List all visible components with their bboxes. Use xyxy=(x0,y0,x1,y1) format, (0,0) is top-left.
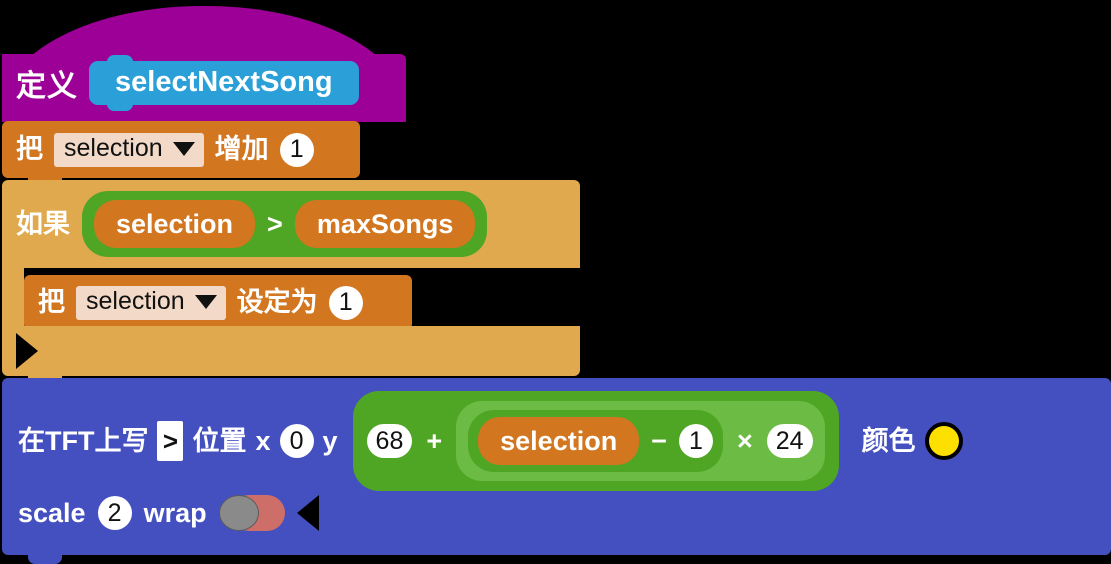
variable-reporter-selection-math-label: selection xyxy=(500,428,617,455)
multiplier-value: 24 xyxy=(776,429,804,454)
multiplication-operator-block[interactable]: selection − 1 × 24 xyxy=(456,401,824,481)
tft-scale-input[interactable]: 2 xyxy=(98,496,132,530)
subtraction-operator-block[interactable]: selection − 1 xyxy=(468,410,723,472)
set-variable-dropdown[interactable]: selection xyxy=(76,286,226,320)
define-hat-row: 定义 selectNextSong xyxy=(16,53,359,113)
multiplier-input[interactable]: 24 xyxy=(767,424,813,458)
set-var-prefix-label: 把 xyxy=(38,289,65,316)
if-block-footer[interactable] xyxy=(2,326,580,376)
define-keyword-label: 定义 xyxy=(16,61,78,105)
tft-x-input[interactable]: 0 xyxy=(280,424,314,458)
addend-input[interactable]: 68 xyxy=(367,424,413,458)
variable-dropdown-label: selection xyxy=(64,136,163,161)
change-var-prefix-label: 把 xyxy=(16,136,43,163)
addend-value: 68 xyxy=(376,429,404,454)
set-variable-dropdown-label: selection xyxy=(86,289,185,314)
change-var-value-input[interactable]: 1 xyxy=(280,133,314,167)
if-block-header[interactable]: 如果 selection > maxSongs xyxy=(2,180,580,268)
addition-operator-symbol: + xyxy=(418,428,450,455)
set-var-action-label: 设定为 xyxy=(237,289,318,316)
wrap-toggle-switch[interactable] xyxy=(219,495,285,531)
tft-write-block[interactable]: 在TFT上写 > 位置 x 0 y 68 + selection xyxy=(2,378,1111,555)
set-var-value-text: 1 xyxy=(339,290,353,315)
variable-reporter-selection-label: selection xyxy=(116,211,233,238)
chevron-down-icon xyxy=(173,142,195,156)
variable-reporter-selection-math[interactable]: selection xyxy=(478,417,639,465)
tft-position-label: 位置 xyxy=(192,428,246,455)
tft-text-input[interactable]: > xyxy=(157,421,183,461)
tft-x-value: 0 xyxy=(290,429,304,454)
tft-write-line-2: scale 2 wrap xyxy=(18,483,319,543)
triangle-right-icon[interactable] xyxy=(16,333,38,369)
set-var-value-input[interactable]: 1 xyxy=(329,286,363,320)
tft-block-bottom-notch xyxy=(28,554,62,564)
multiplication-operator-symbol: × xyxy=(729,428,761,455)
if-keyword-label: 如果 xyxy=(16,211,70,238)
tft-color-label: 颜色 xyxy=(862,428,916,455)
chevron-down-icon xyxy=(195,295,217,309)
blocks-canvas: 定义 selectNextSong 把 selection 增加 1 如果 se… xyxy=(0,0,1111,561)
tft-wrap-label: wrap xyxy=(144,500,207,527)
tft-write-line-1: 在TFT上写 > 位置 x 0 y 68 + selection xyxy=(18,398,963,484)
tft-scale-value: 2 xyxy=(108,501,122,526)
subtraction-operator-symbol: − xyxy=(643,428,675,455)
comparison-operator-block[interactable]: selection > maxSongs xyxy=(82,191,487,257)
set-variable-block[interactable]: 把 selection 设定为 1 xyxy=(24,275,412,330)
tft-scale-label: scale xyxy=(18,500,86,527)
variable-reporter-selection[interactable]: selection xyxy=(94,200,255,248)
addition-operator-block[interactable]: 68 + selection − 1 × 24 xyxy=(353,391,839,491)
tft-x-label: x xyxy=(255,428,270,455)
subtrahend-input[interactable]: 1 xyxy=(679,424,713,458)
change-var-action-label: 增加 xyxy=(215,136,269,163)
procedure-name-label: selectNextSong xyxy=(115,66,333,99)
tft-write-prefix-label: 在TFT上写 xyxy=(18,428,148,455)
tft-text-input-value: > xyxy=(163,428,178,454)
variable-reporter-maxsongs-label: maxSongs xyxy=(317,211,454,238)
tft-y-label: y xyxy=(323,428,338,455)
if-block-left-wall xyxy=(2,268,24,326)
variable-dropdown-selection[interactable]: selection xyxy=(54,133,204,167)
change-variable-block[interactable]: 把 selection 增加 1 xyxy=(2,121,360,178)
change-var-value-text: 1 xyxy=(290,137,304,162)
triangle-left-icon[interactable] xyxy=(297,495,319,531)
variable-reporter-maxsongs[interactable]: maxSongs xyxy=(295,200,476,248)
subtrahend-value: 1 xyxy=(689,429,703,454)
define-hat-block[interactable]: 定义 selectNextSong xyxy=(2,6,406,122)
color-swatch-picker[interactable] xyxy=(925,422,963,460)
comparison-operator-symbol: > xyxy=(259,211,291,238)
wrap-toggle-knob xyxy=(219,495,259,531)
procedure-prototype-block[interactable]: selectNextSong xyxy=(89,61,359,105)
